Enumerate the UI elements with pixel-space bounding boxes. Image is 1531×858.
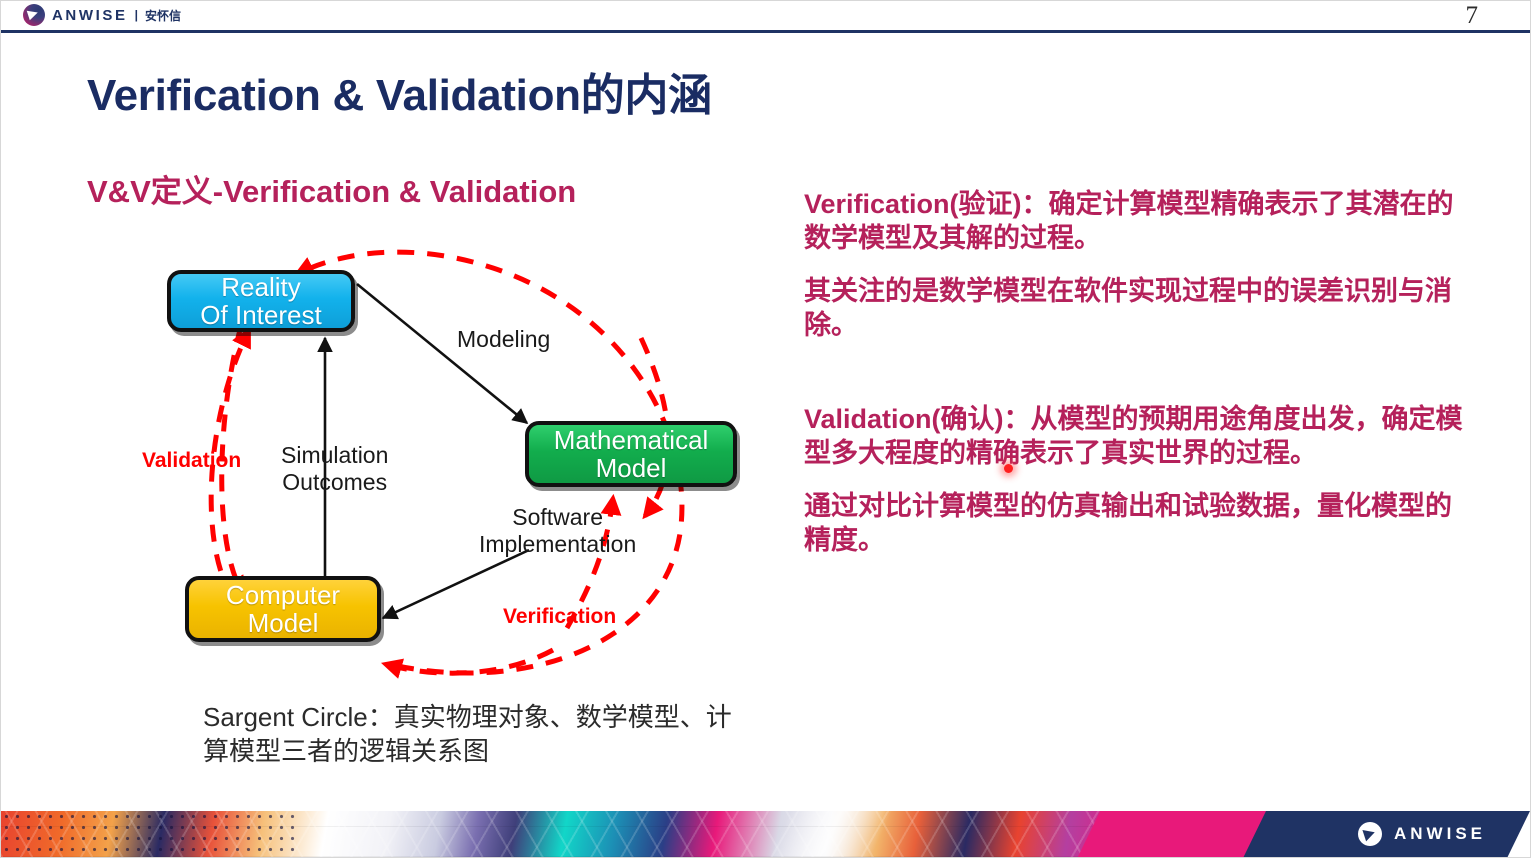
slide-header: ANWISE | 安怀信 7	[1, 1, 1530, 31]
edge-modeling	[357, 284, 527, 423]
diagram-caption: Sargent Circle：真实物理对象、数学模型、计算模型三者的逻辑关系图	[203, 701, 743, 769]
sargent-circle-diagram: Reality Of Interest Mathematical Model C…	[121, 226, 781, 696]
page-number: 7	[1466, 1, 1479, 31]
paragraph-spacer	[804, 360, 1476, 402]
verification-note: 其关注的是数学模型在软件实现过程中的误差识别与消除。	[804, 274, 1476, 343]
definitions-panel: Verification(验证)：确定计算模型精确表示了其潜在的数学模型及其解的…	[804, 187, 1476, 575]
footer-brand-name: ANWISE	[1394, 824, 1486, 844]
label-validation: Validation	[142, 449, 241, 473]
footer-brand: ANWISE	[1358, 811, 1486, 857]
label-simulation-outcomes: Simulation Outcomes	[281, 442, 388, 496]
slide-canvas: ANWISE | 安怀信 7 Verification & Validation…	[0, 0, 1531, 858]
node-mathematical-model[interactable]: Mathematical Model	[525, 421, 737, 487]
brand-name: ANWISE	[52, 8, 128, 23]
anwise-logo-icon	[23, 4, 45, 26]
header-divider	[1, 30, 1530, 33]
brand-separator: |	[135, 8, 138, 22]
verification-definition: Verification(验证)：确定计算模型精确表示了其潜在的数学模型及其解的…	[804, 187, 1476, 256]
label-verification: Verification	[503, 605, 616, 629]
section-title: V&V定义-Verification & Validation	[87, 166, 576, 211]
node-reality-of-interest[interactable]: Reality Of Interest	[167, 270, 355, 332]
footer-dot-overlay	[1, 811, 301, 857]
anwise-logo-icon	[1358, 822, 1382, 846]
label-software-implementation: Software Implementation	[479, 504, 636, 558]
laser-pointer-dot	[1004, 464, 1013, 473]
validation-definition: Validation(确认)：从模型的预期用途角度出发，确定模型多大程度的精确表…	[804, 402, 1476, 471]
brand-name-cn: 安怀信	[145, 7, 181, 24]
header-brand: ANWISE | 安怀信	[23, 4, 181, 26]
slide-footer: ANWISE	[1, 811, 1530, 857]
label-modeling: Modeling	[457, 326, 550, 353]
page-title: Verification & Validation的内涵	[87, 59, 712, 123]
node-computer-model[interactable]: Computer Model	[185, 576, 381, 642]
validation-note: 通过对比计算模型的仿真输出和试验数据，量化模型的精度。	[804, 489, 1476, 558]
